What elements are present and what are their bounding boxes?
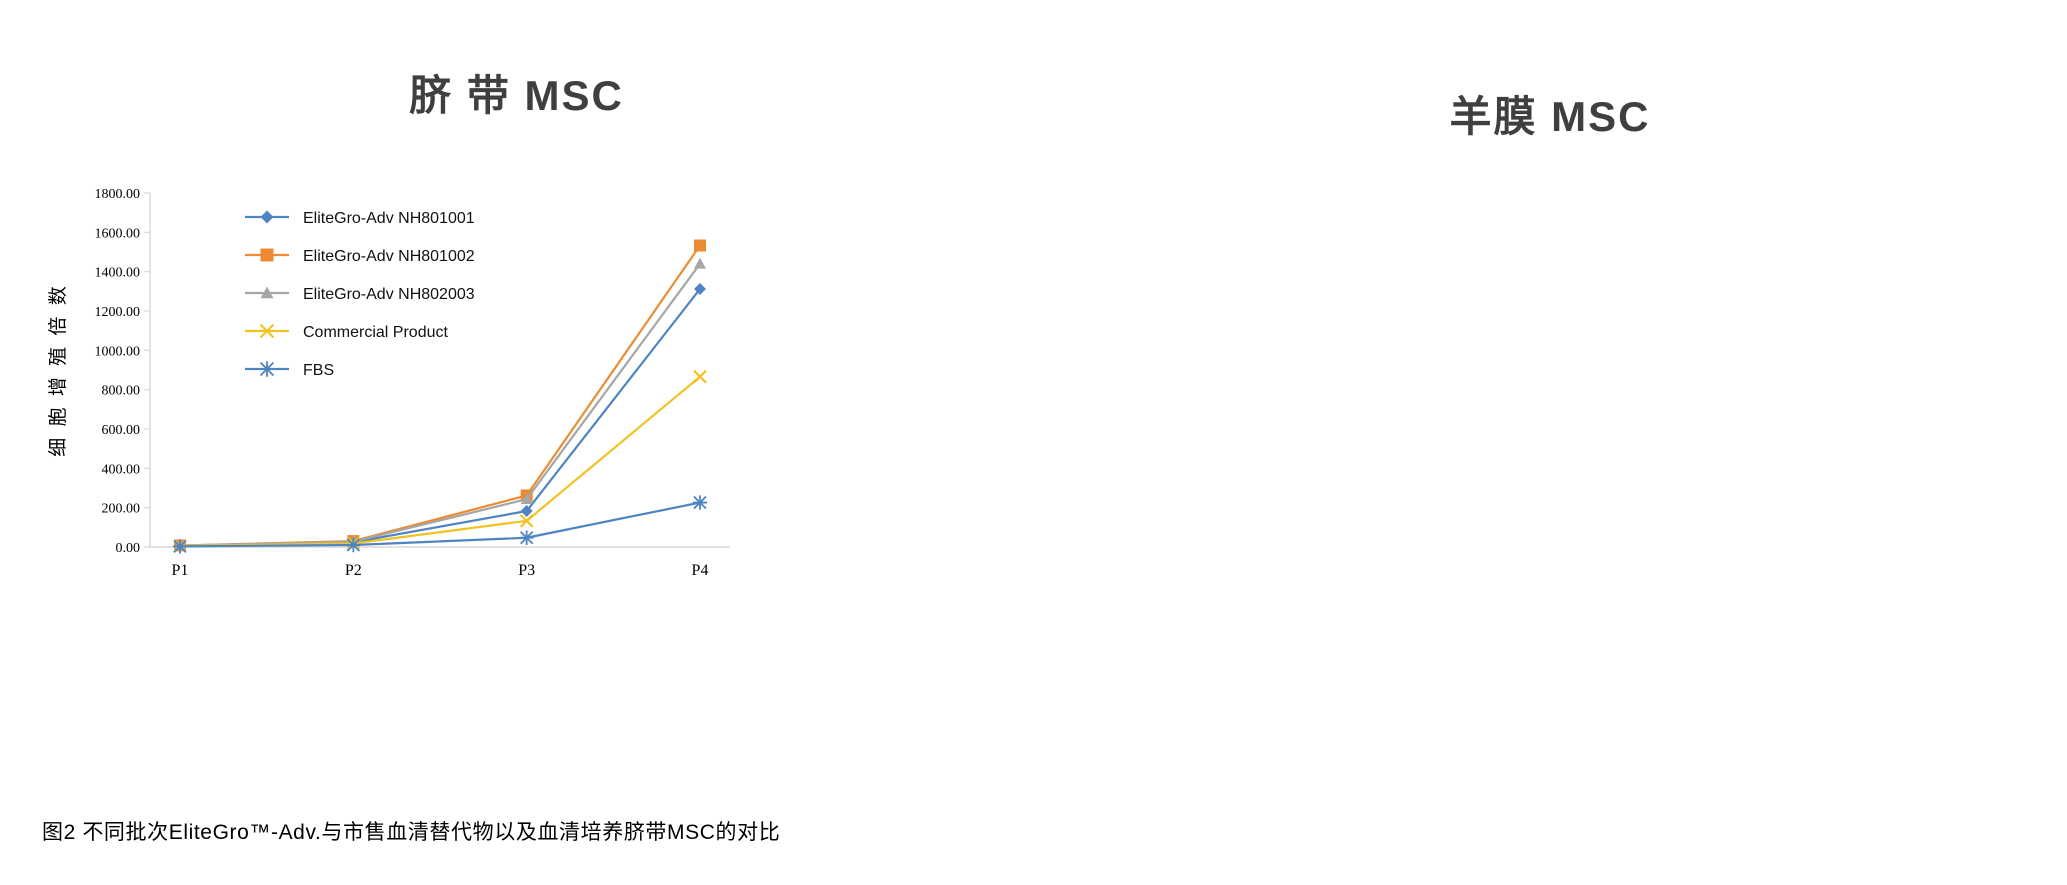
y-axis-tick-label: 600.00 xyxy=(102,423,141,438)
triangle-marker-icon xyxy=(694,258,706,269)
y-axis-tick-label: 800.00 xyxy=(102,384,141,399)
y-axis-tick-label: 400.00 xyxy=(102,462,141,477)
data-point-marker xyxy=(346,538,360,552)
y-axis-title: 细 胞 增 殖 倍 数 xyxy=(47,283,69,456)
data-point-marker xyxy=(261,211,274,224)
legend-item: EliteGro-Adv NH802003 xyxy=(245,286,475,303)
line-chart-left-svg: 0.00200.00400.00600.00800.001000.001200.… xyxy=(30,155,790,605)
square-marker-icon xyxy=(694,240,706,252)
diamond-marker-icon xyxy=(261,211,274,224)
legend-label: FBS xyxy=(303,362,334,379)
data-point-marker xyxy=(694,371,706,383)
data-point-marker xyxy=(693,495,707,509)
y-axis-tick-label: 1600.00 xyxy=(95,226,141,241)
y-axis-tick-label: 1000.00 xyxy=(95,344,141,359)
legend-item: FBS xyxy=(245,361,334,379)
asterisk-marker-icon xyxy=(519,531,533,545)
legend-item: Commercial Product xyxy=(245,324,448,341)
asterisk-marker-icon xyxy=(693,495,707,509)
panel-amniotic-membrane-msc: 羊膜 MSC 051015202530P0P1P2P3P4细 胞 增 殖 倍 数… xyxy=(1033,0,2067,885)
data-point-marker xyxy=(694,258,706,269)
series-line xyxy=(180,264,700,546)
y-axis-tick-label: 1800.00 xyxy=(95,187,141,202)
legend-label: EliteGro-Adv NH801002 xyxy=(303,248,475,265)
legend-label: EliteGro-Adv NH802003 xyxy=(303,286,475,303)
y-axis-tick-label: 1400.00 xyxy=(95,266,141,281)
x-axis-tick-label: P2 xyxy=(345,562,362,579)
data-point-marker xyxy=(261,249,274,262)
caption-left: 图2 不同批次EliteGro™-Adv.与市售血清替代物以及血清培养脐带MSC… xyxy=(42,816,780,846)
chart-left: 0.00200.00400.00600.00800.001000.001200.… xyxy=(30,155,790,605)
x-axis-tick-label: P4 xyxy=(692,562,709,579)
series-line xyxy=(180,503,700,547)
asterisk-marker-icon xyxy=(173,539,187,553)
square-marker-icon xyxy=(261,249,274,262)
data-point-marker xyxy=(259,361,275,377)
cross-marker-icon xyxy=(694,371,706,383)
y-axis-tick-label: 0.00 xyxy=(116,541,141,556)
figure-page: 脐 带 MSC 0.00200.00400.00600.00800.001000… xyxy=(0,0,2067,885)
asterisk-marker-icon xyxy=(346,538,360,552)
chart-title-right: 羊膜 MSC xyxy=(1033,83,2067,144)
data-point-marker xyxy=(694,240,706,252)
asterisk-marker-icon xyxy=(259,361,275,377)
legend-label: EliteGro-Adv NH801001 xyxy=(303,210,475,227)
chart-title-left: 脐 带 MSC xyxy=(0,62,1033,123)
data-point-marker xyxy=(173,539,187,553)
y-axis-tick-label: 200.00 xyxy=(102,502,141,517)
legend-label: Commercial Product xyxy=(303,324,448,341)
y-axis-tick-label: 1200.00 xyxy=(95,305,141,320)
panel-umbilical-cord-msc: 脐 带 MSC 0.00200.00400.00600.00800.001000… xyxy=(0,0,1033,885)
legend-item: EliteGro-Adv NH801001 xyxy=(245,210,475,227)
x-axis-tick-label: P1 xyxy=(172,562,189,579)
legend-item: EliteGro-Adv NH801002 xyxy=(245,248,475,265)
x-axis-tick-label: P3 xyxy=(518,562,535,579)
data-point-marker xyxy=(519,531,533,545)
